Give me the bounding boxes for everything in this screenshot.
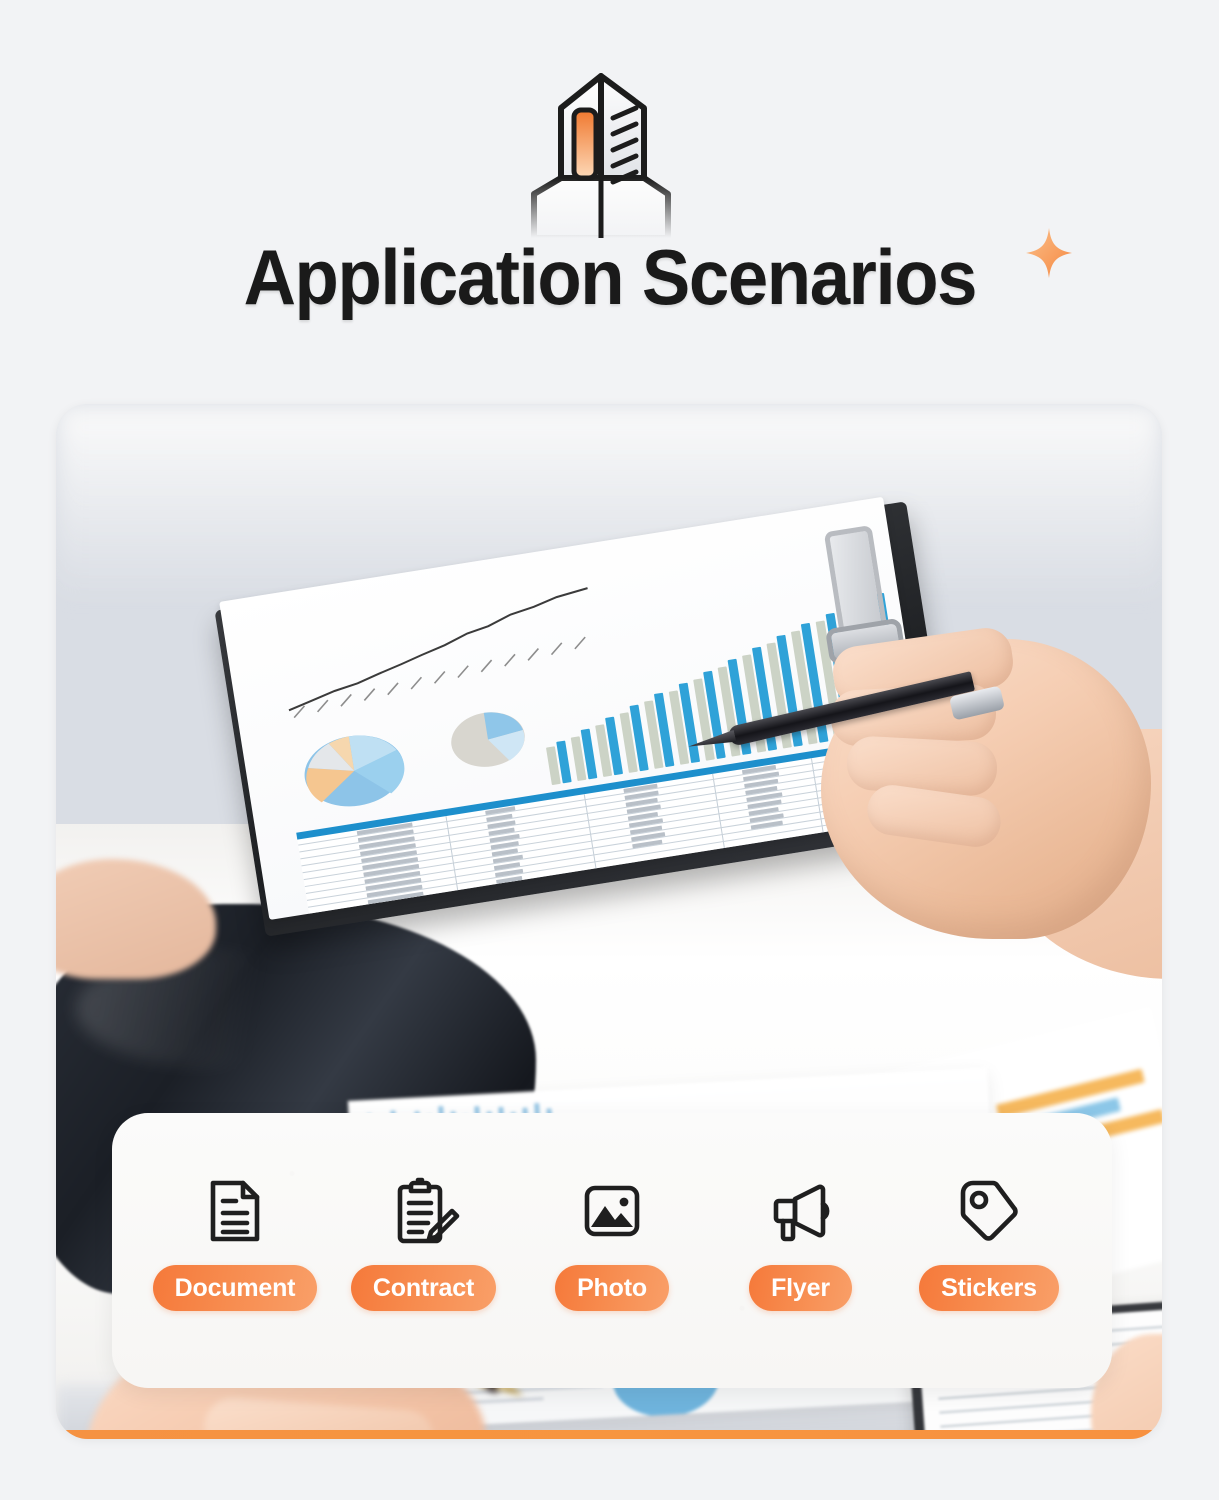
page-title: Application Scenarios	[243, 238, 976, 316]
page-root: Application Scenarios	[0, 0, 1219, 1500]
category-pill-photo[interactable]: Photo	[555, 1265, 669, 1311]
pie-chart-1	[298, 727, 410, 814]
clipboard-pencil-icon	[388, 1175, 460, 1247]
category-pill-flyer[interactable]: Flyer	[749, 1265, 852, 1311]
document-icon	[199, 1175, 271, 1247]
category-item-stickers[interactable]: Stickers	[896, 1175, 1082, 1311]
category-item-document[interactable]: Document	[142, 1175, 328, 1311]
category-pill-stickers[interactable]: Stickers	[919, 1265, 1059, 1311]
category-item-contract[interactable]: Contract	[331, 1175, 517, 1311]
pie-chart-2	[446, 706, 530, 773]
sparkle-icon	[1026, 228, 1072, 278]
category-item-flyer[interactable]: Flyer	[708, 1175, 894, 1311]
category-pill-contract[interactable]: Contract	[351, 1265, 496, 1311]
building-tower-icon	[494, 66, 709, 241]
category-pill-document[interactable]: Document	[153, 1265, 318, 1311]
business-meeting-clipboard-photo: Document	[56, 404, 1162, 1439]
price-tag-icon	[953, 1175, 1025, 1247]
category-item-photo[interactable]: Photo	[519, 1175, 705, 1311]
hand-holding-pen	[801, 579, 1162, 999]
page-header: Application Scenarios	[0, 0, 1219, 400]
category-list: Document	[112, 1113, 1112, 1388]
image-icon	[576, 1175, 648, 1247]
finger	[846, 735, 999, 797]
category-card: Document	[112, 1113, 1112, 1388]
megaphone-icon	[765, 1175, 837, 1247]
